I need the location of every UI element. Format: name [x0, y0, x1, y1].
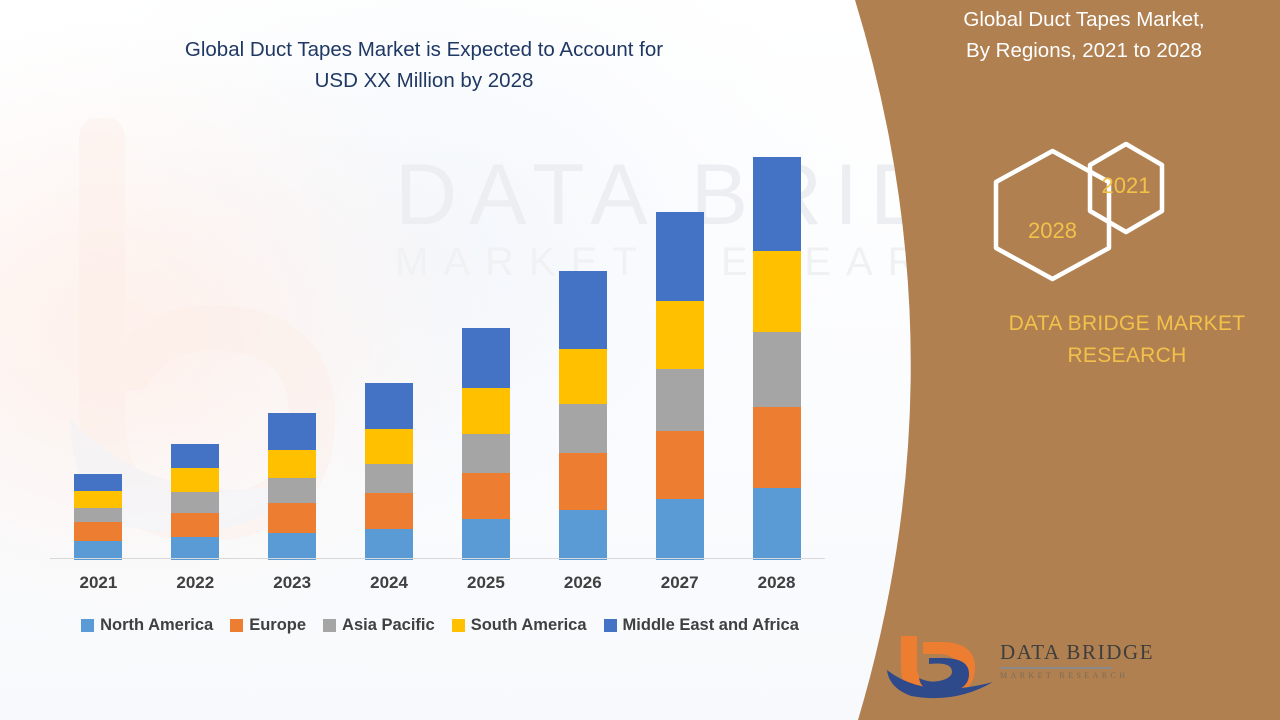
chart-title-line-2: USD XX Million by 2028 [90, 65, 758, 96]
chart-legend-swatch-icon [81, 619, 94, 632]
panel-brand-line-2: RESEARCH [952, 340, 1280, 372]
chart-bar-segment [365, 383, 413, 429]
chart-bar [74, 474, 122, 560]
chart-legend-swatch-icon [452, 619, 465, 632]
chart-legend-item[interactable]: Asia Pacific [323, 616, 435, 635]
chart-legend-label: Europe [249, 616, 306, 635]
panel-title-line-2: By Regions, 2021 to 2028 [900, 35, 1268, 66]
chart-bar-segment [171, 537, 219, 560]
chart-x-label: 2027 [635, 573, 725, 593]
chart-bar-segment [462, 328, 510, 388]
chart-bar-segment [74, 491, 122, 508]
chart-bar-segment [268, 533, 316, 560]
chart-bar-segment [74, 508, 122, 522]
slide-canvas: DATA BRIDGE MARKET RESEARCH Global Duct … [0, 0, 1280, 720]
chart-bar-segment [268, 503, 316, 533]
chart-bar-segment [559, 510, 607, 560]
chart-bar-segment [365, 429, 413, 464]
chart-title: Global Duct Tapes Market is Expected to … [90, 34, 758, 96]
chart-bar-segment [268, 478, 316, 503]
panel-title-line-1: Global Duct Tapes Market, [900, 4, 1268, 35]
panel-brand-name: DATA BRIDGE MARKET RESEARCH [952, 308, 1280, 372]
chart-bar-segment [656, 301, 704, 369]
chart-legend-swatch-icon [230, 619, 243, 632]
chart-legend-item[interactable]: South America [452, 616, 587, 635]
chart-bar-segment [462, 434, 510, 473]
company-logo-tagline: MARKET RESEARCH [1000, 671, 1120, 680]
chart-x-label: 2022 [150, 573, 240, 593]
chart-bar-segment [462, 473, 510, 519]
chart-bar [365, 383, 413, 560]
chart-bar-segment [462, 519, 510, 560]
panel-brand-line-1: DATA BRIDGE MARKET [952, 308, 1280, 340]
chart-axis-baseline [50, 558, 825, 559]
chart-bar-segment [656, 431, 704, 499]
chart-bar-segment [365, 464, 413, 493]
hexagon-2021-label: 2021 [1083, 173, 1169, 199]
chart-bar-segment [365, 529, 413, 560]
chart-legend: North AmericaEuropeAsia PacificSouth Ame… [50, 616, 830, 635]
chart-bar-segment [74, 522, 122, 540]
chart-bar-segment [74, 474, 122, 491]
chart-bar-segment [462, 388, 510, 433]
chart-bar-segment [559, 271, 607, 349]
chart-x-axis-labels: 20212022202320242025202620272028 [50, 573, 825, 601]
chart-legend-label: South America [471, 616, 587, 635]
company-logo-text: DATA BRIDGE MARKET RESEARCH [1000, 640, 1120, 680]
chart-bar [268, 413, 316, 560]
chart-legend-item[interactable]: Europe [230, 616, 306, 635]
chart-bar-segment [559, 453, 607, 510]
chart-bar-segment [365, 493, 413, 529]
chart-title-line-1: Global Duct Tapes Market is Expected to … [90, 34, 758, 65]
chart-bar [559, 271, 607, 560]
chart-legend-swatch-icon [323, 619, 336, 632]
chart-bar-segment [268, 450, 316, 478]
chart-x-label: 2026 [538, 573, 628, 593]
chart-x-label: 2024 [344, 573, 434, 593]
chart-bar-segment [656, 369, 704, 431]
chart-bar-segment [171, 444, 219, 469]
chart-bar-segment [268, 413, 316, 450]
chart-bar-segment [559, 404, 607, 454]
chart-plot-area [50, 150, 825, 560]
chart-bar [171, 443, 219, 560]
chart-legend-label: Asia Pacific [342, 616, 435, 635]
chart-bar [462, 328, 510, 560]
chart-legend-label: North America [100, 616, 213, 635]
chart-bar-segment [171, 513, 219, 538]
chart-bar-segment [656, 212, 704, 302]
chart-bar-segment [171, 468, 219, 492]
chart-bar [656, 212, 704, 561]
chart-x-label: 2025 [441, 573, 531, 593]
chart-bar-segment [171, 492, 219, 512]
company-logo-divider [1000, 667, 1112, 669]
panel-title: Global Duct Tapes Market, By Regions, 20… [900, 4, 1268, 66]
chart-legend-swatch-icon [604, 619, 617, 632]
chart-x-label: 2021 [53, 573, 143, 593]
chart-legend-item[interactable]: North America [81, 616, 213, 635]
chart-x-label: 2023 [247, 573, 337, 593]
chart-bar-segment [656, 499, 704, 561]
company-logo-name: DATA BRIDGE [1000, 640, 1120, 665]
chart-bar-segment [559, 349, 607, 404]
